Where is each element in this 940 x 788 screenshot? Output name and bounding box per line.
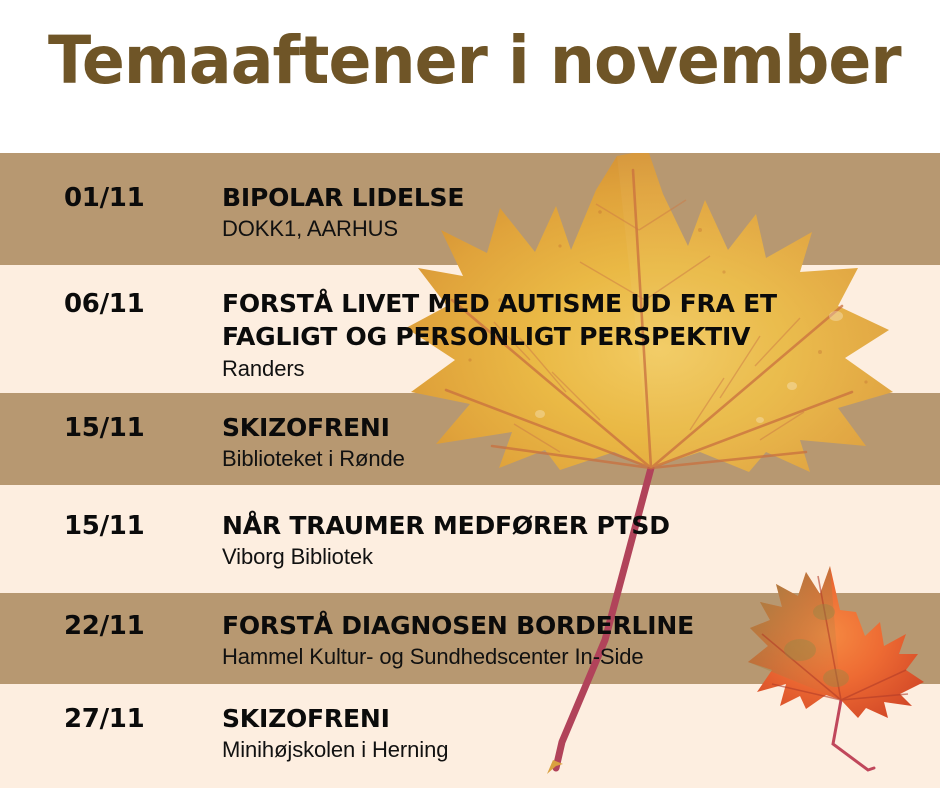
poster-header: Temaaftener i november [0,0,940,153]
event-venue: DOKK1, AARHUS [222,215,922,243]
event-title: FORSTÅ LIVET MED AUTISME UD FRA ET FAGLI… [222,287,842,353]
event-title: SKIZOFRENI [222,702,922,735]
list-item[interactable]: 06/11 FORSTÅ LIVET MED AUTISME UD FRA ET… [0,265,940,393]
list-item[interactable]: 22/11 FORSTÅ DIAGNOSEN BORDERLINE Hammel… [0,593,940,684]
event-title: NÅR TRAUMER MEDFØRER PTSD [222,509,922,542]
event-venue: Hammel Kultur- og Sundhedscenter In-Side [222,643,922,671]
list-item[interactable]: 15/11 NÅR TRAUMER MEDFØRER PTSD Viborg B… [0,485,940,593]
event-date: 15/11 [64,413,144,443]
event-date: 22/11 [64,611,144,641]
event-title: FORSTÅ DIAGNOSEN BORDERLINE [222,609,922,642]
event-venue: Minihøjskolen i Herning [222,736,922,764]
page-title: Temaaftener i november [48,26,901,95]
list-item[interactable]: 01/11 BIPOLAR LIDELSE DOKK1, AARHUS [0,153,940,265]
event-date: 06/11 [64,289,144,319]
event-title: BIPOLAR LIDELSE [222,181,922,214]
event-venue: Viborg Bibliotek [222,543,922,571]
event-title: SKIZOFRENI [222,411,922,444]
list-item[interactable]: 15/11 SKIZOFRENI Biblioteket i Rønde [0,393,940,485]
event-venue: Biblioteket i Rønde [222,445,922,473]
list-item[interactable]: 27/11 SKIZOFRENI Minihøjskolen i Herning [0,684,940,788]
event-date: 01/11 [64,183,144,213]
event-date: 15/11 [64,511,144,541]
poster-canvas: Temaaftener i november 01/11 BIPOLAR LID… [0,0,940,788]
event-date: 27/11 [64,704,144,734]
event-venue: Randers [222,355,922,383]
